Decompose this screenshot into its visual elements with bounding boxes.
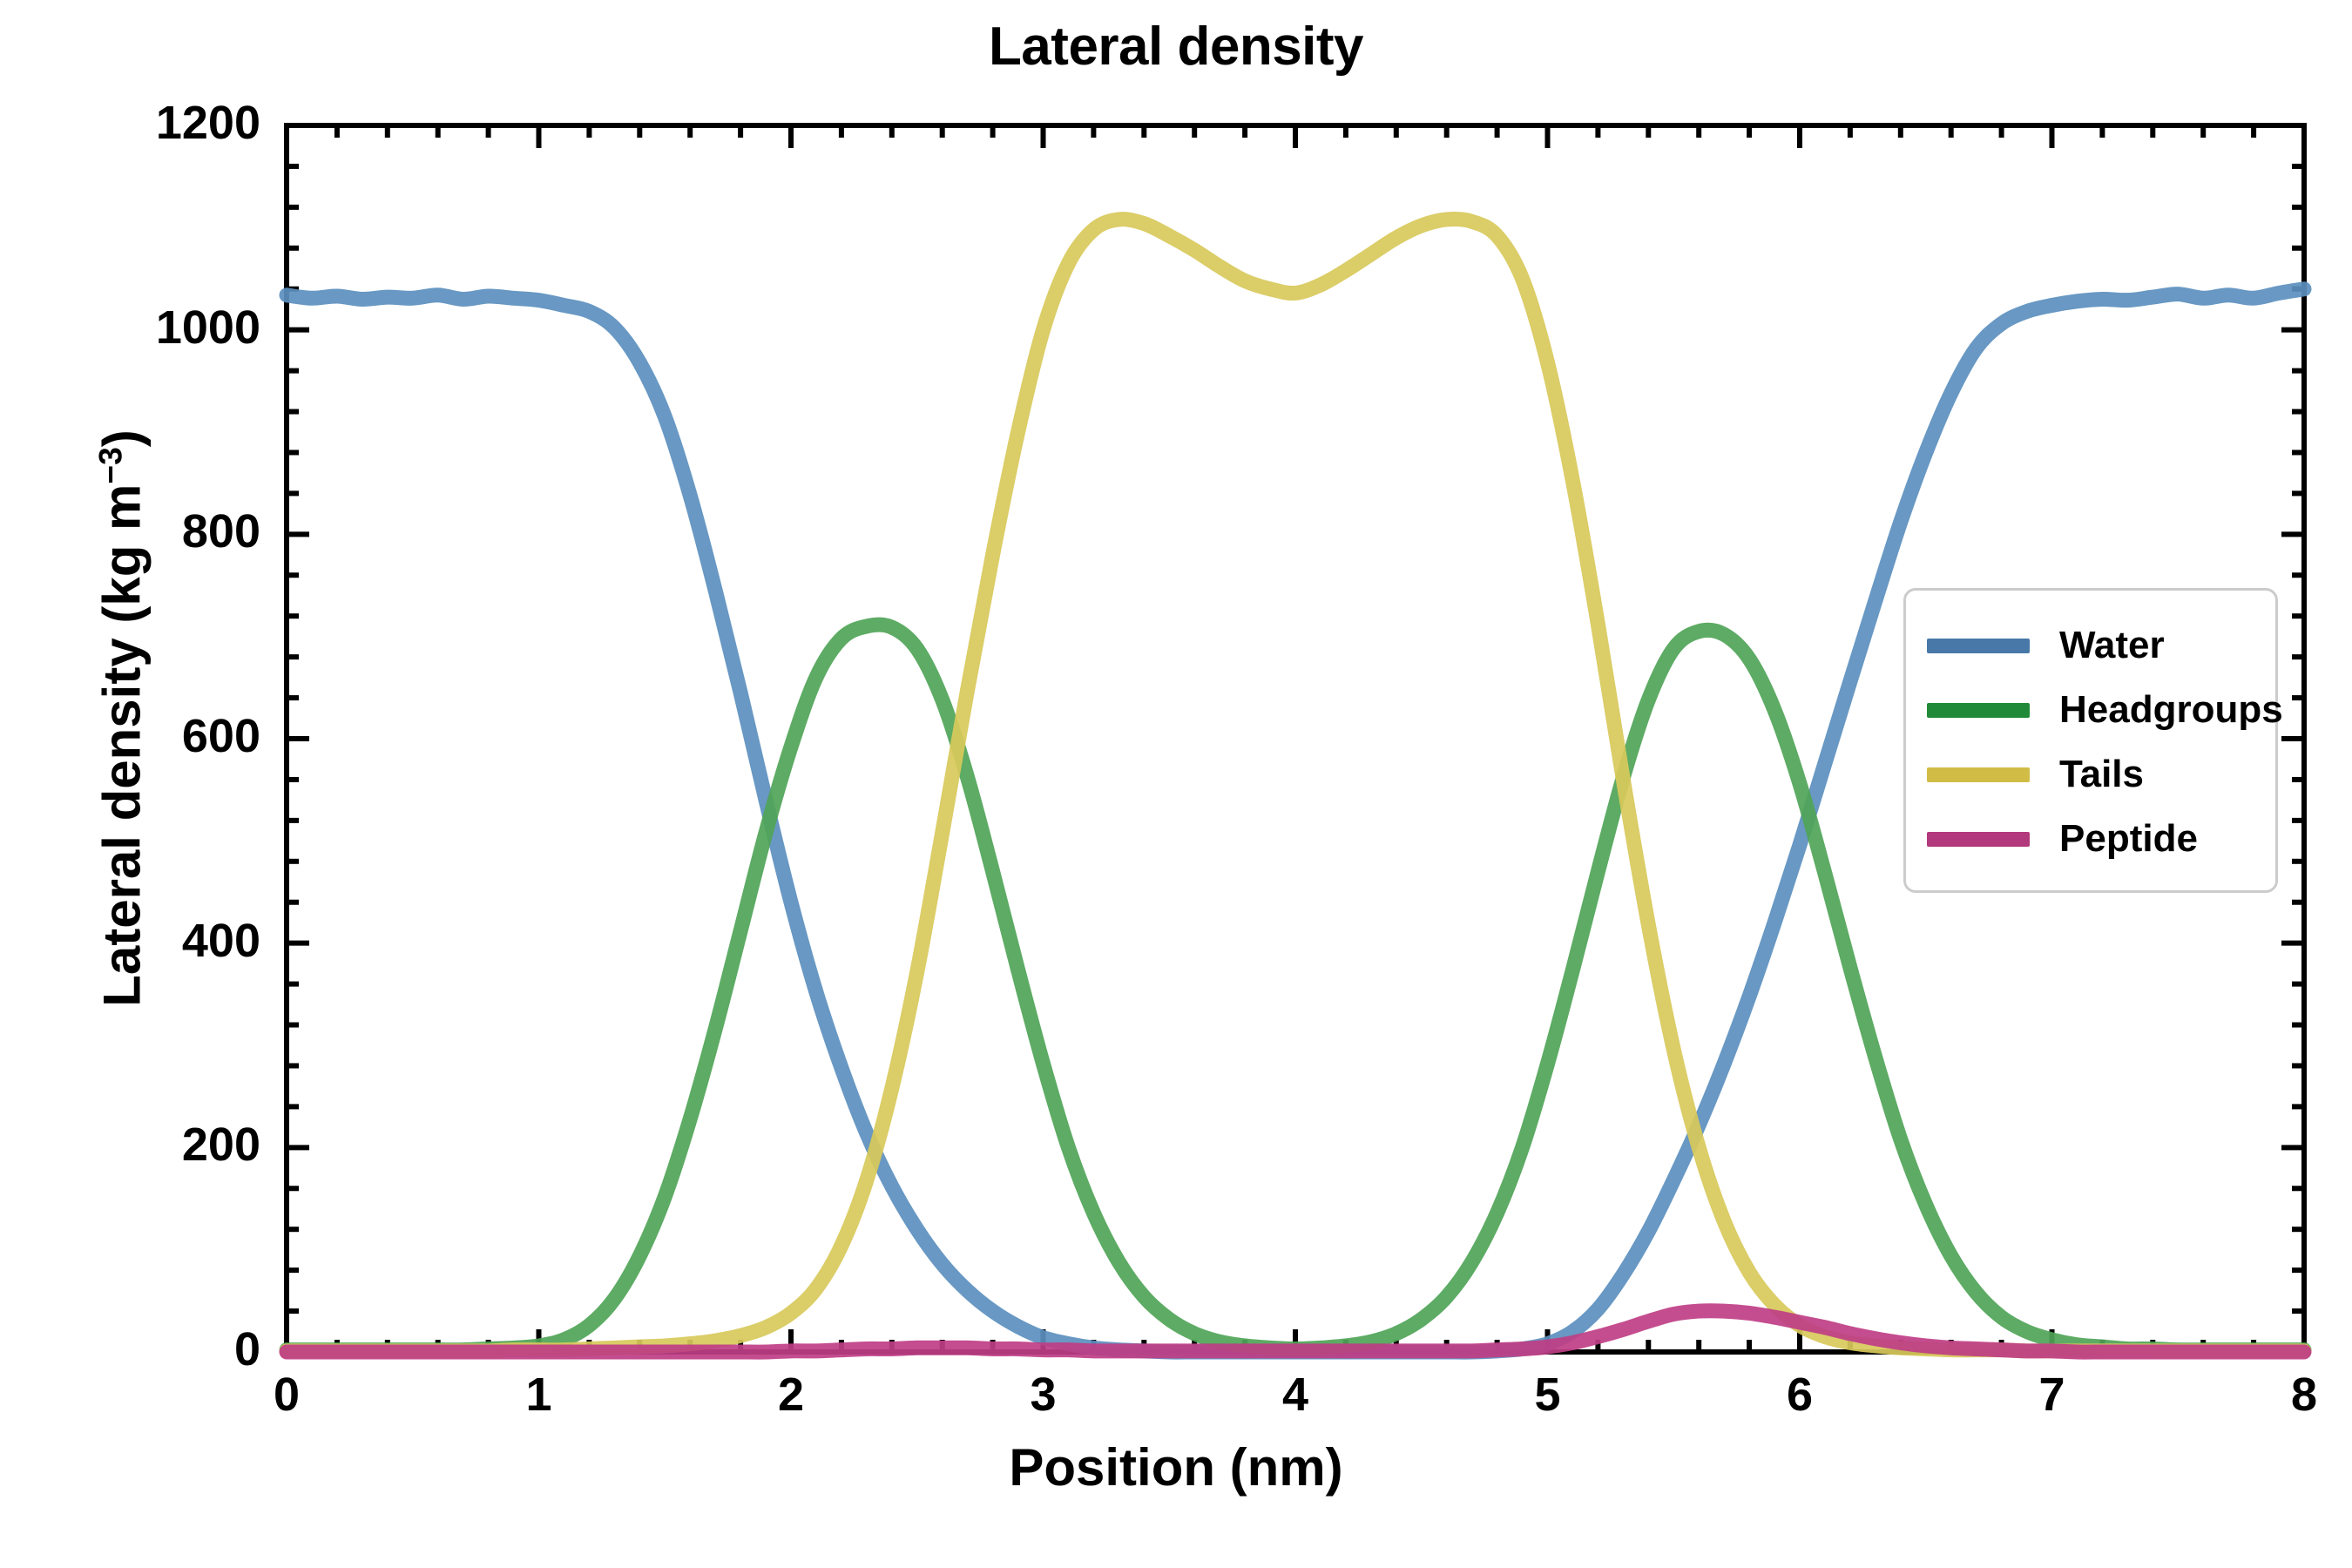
- legend-label: Peptide: [2059, 817, 2198, 861]
- y-tick-label: 200: [34, 1118, 260, 1172]
- legend-item: Headgroups: [1906, 678, 2275, 742]
- legend-item: Tails: [1906, 742, 2275, 807]
- legend-item: Water: [1906, 613, 2275, 678]
- x-tick-label: 0: [234, 1368, 339, 1422]
- x-tick-label: 1: [487, 1368, 591, 1422]
- y-tick-label: 1000: [34, 301, 260, 355]
- x-tick-label: 4: [1243, 1368, 1348, 1422]
- x-tick-label: 7: [2000, 1368, 2105, 1422]
- legend-label: Tails: [2059, 753, 2144, 796]
- y-tick-label: 400: [34, 914, 260, 968]
- x-tick-label: 2: [739, 1368, 843, 1422]
- x-tick-label: 5: [1496, 1368, 1600, 1422]
- legend-item: Peptide: [1906, 807, 2275, 871]
- y-tick-label: 600: [34, 709, 260, 763]
- x-tick-label: 3: [991, 1368, 1096, 1422]
- y-tick-label: 0: [34, 1322, 260, 1376]
- legend-label: Headgroups: [2059, 688, 2283, 732]
- x-tick-label: 6: [1747, 1368, 1852, 1422]
- legend-label: Water: [2059, 624, 2165, 667]
- x-tick-label: 8: [2252, 1368, 2352, 1422]
- figure: Lateral density Lateral density (kg m−3)…: [0, 0, 2352, 1568]
- legend: WaterHeadgroupsTailsPeptide: [1903, 588, 2278, 893]
- y-tick-label: 800: [34, 504, 260, 558]
- legend-swatch-icon: [1927, 703, 2030, 718]
- legend-swatch-icon: [1927, 639, 2030, 653]
- legend-swatch-icon: [1927, 832, 2030, 847]
- legend-swatch-icon: [1927, 767, 2030, 782]
- y-tick-label: 1200: [34, 96, 260, 150]
